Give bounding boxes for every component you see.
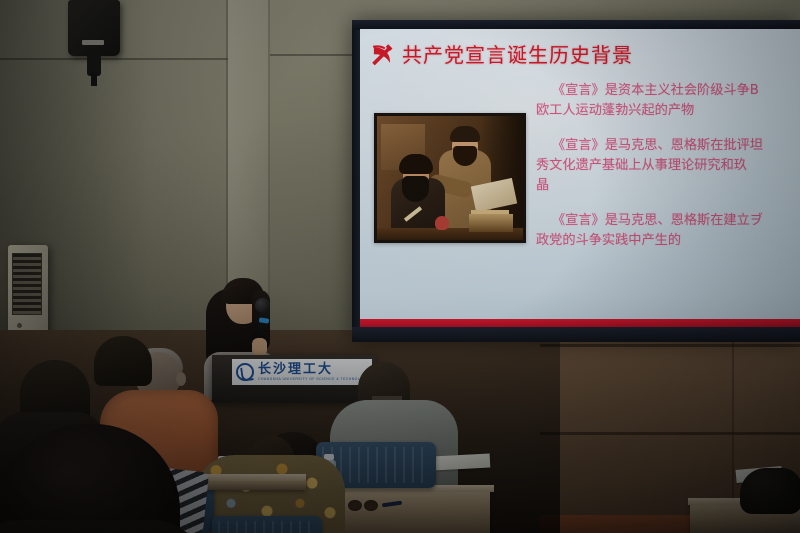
presentation-slide: 共产党宣言诞生历史背景	[360, 29, 800, 319]
chair-back	[212, 516, 322, 533]
painting-books	[469, 214, 513, 232]
marx-beard	[402, 176, 429, 202]
wood-seam	[540, 344, 800, 347]
wood-seam	[540, 432, 800, 435]
microphone-head	[255, 298, 270, 313]
attendee-ear	[176, 372, 186, 386]
black-bag	[740, 468, 800, 514]
slide-body-text: 《宣言》是资本主义社会阶级斗争В 欧工人运动蓬勃兴起的产物 《宣言》是马克思、恩…	[536, 81, 800, 251]
wood-vertical-seam	[732, 330, 734, 435]
speaker-badge	[82, 40, 104, 45]
eyeglasses	[348, 500, 378, 509]
slide-paragraph-line: 《宣言》是资本主义社会阶级斗争В	[536, 81, 800, 101]
ac-grille	[12, 253, 42, 315]
slide-paragraph-line: 《宣言》是马克思、恩格斯在批评坦	[536, 136, 800, 156]
painting-canvas	[377, 116, 523, 240]
paragraph-spacer	[536, 121, 800, 136]
marx-and-engels-painting	[374, 113, 526, 243]
marx-hair	[399, 154, 433, 174]
slide-paragraph-line: 《宣言》是马克思、恩格斯在建立ヺ	[536, 211, 800, 231]
lectern: 长沙理工大 CHANGSHA UNIVERSITY OF SCIENCE & T…	[212, 355, 376, 403]
university-name-cn: 长沙理工大	[258, 363, 369, 376]
wall-loudspeaker-icon	[68, 0, 120, 56]
screen-bezel-bottom	[352, 327, 800, 342]
engels-hair	[450, 126, 480, 142]
hammer-and-sickle-icon	[368, 40, 395, 67]
speaker-mount-arm	[91, 72, 97, 86]
slide-paragraph-line: 欧工人运动蓬勃兴起的产物	[536, 101, 800, 121]
attendee-far-left-head	[94, 336, 152, 386]
chair-slats	[218, 521, 316, 533]
slide-paragraph-line: 秀文化遗产基础上从事理论研究和玖	[536, 156, 800, 176]
painting-inkwell	[435, 216, 449, 230]
university-name-en: CHANGSHA UNIVERSITY OF SCIENCE & TECHNOL…	[258, 378, 369, 381]
slide-title: 共产党宣言诞生历史背景	[402, 39, 633, 68]
lectern-nameplate: 长沙理工大 CHANGSHA UNIVERSITY OF SCIENCE & T…	[232, 359, 372, 385]
slide-paragraph-line: 晶	[536, 176, 800, 196]
paragraph-spacer	[536, 196, 800, 211]
slide-accent-bar	[360, 319, 800, 327]
slide-paragraph-line: 政党的斗争实践中产生的	[536, 231, 800, 251]
speaker-hand	[252, 338, 267, 356]
university-seal-icon	[236, 363, 254, 381]
lecture-hall-photo: 共产党宣言诞生历史背景	[0, 0, 800, 533]
slide-title-row: 共产党宣言诞生历史背景	[368, 39, 633, 68]
lectern-text-block: 长沙理工大 CHANGSHA UNIVERSITY OF SCIENCE & T…	[258, 363, 369, 381]
wall-seam	[270, 54, 356, 56]
ac-indicator	[17, 323, 22, 328]
